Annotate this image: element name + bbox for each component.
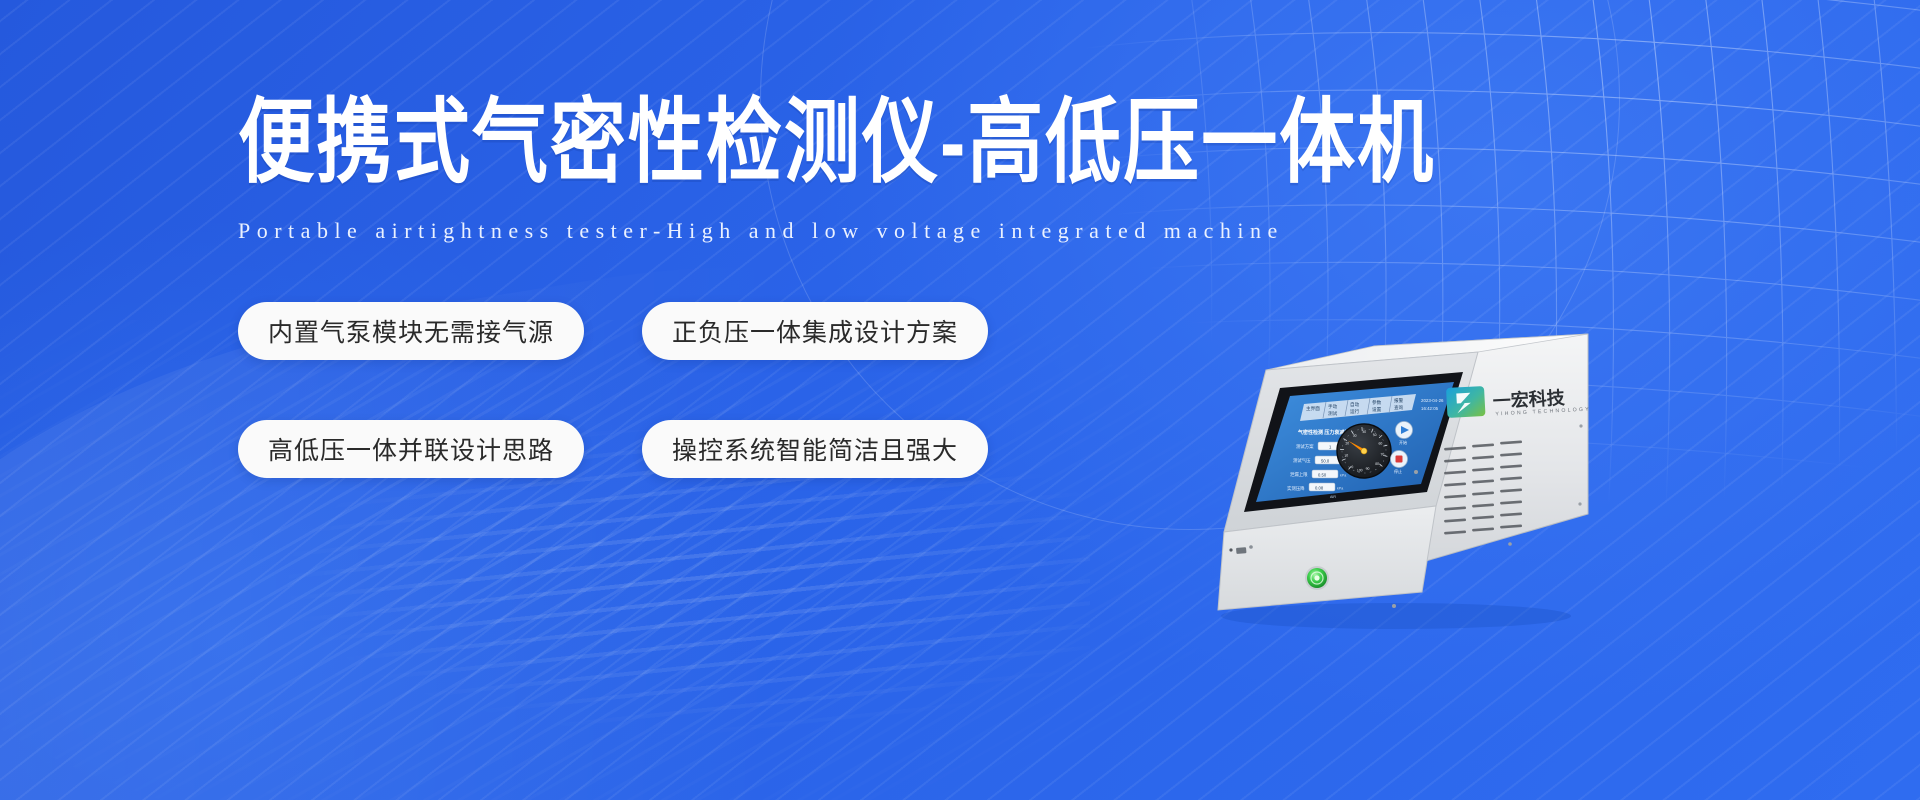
svg-text:运行: 运行: [1350, 408, 1360, 415]
svg-text:90: 90: [1366, 467, 1370, 471]
svg-text:自动: 自动: [1350, 401, 1360, 408]
feature-pill-4[interactable]: 操控系统智能简洁且强大: [642, 420, 988, 478]
feature-pill-3[interactable]: 高低压一体并联设计思路: [238, 420, 584, 478]
svg-text:停止: 停止: [1394, 468, 1402, 474]
svg-text:主界面: 主界面: [1306, 405, 1320, 412]
svg-text:50.0: 50.0: [1321, 459, 1330, 464]
svg-text:参数: 参数: [1372, 399, 1382, 406]
page-subtitle: Portable airtightness tester-High and lo…: [238, 218, 1388, 244]
screen-datetime: 2023-04-26: [1421, 398, 1444, 403]
svg-text:kPa: kPa: [1340, 474, 1346, 478]
svg-text:报警: 报警: [1394, 397, 1404, 404]
svg-text:0.50: 0.50: [1318, 473, 1327, 478]
svg-text:80: 80: [1375, 462, 1379, 466]
svg-text:开始: 开始: [1399, 439, 1407, 445]
svg-text:手动: 手动: [1328, 403, 1338, 410]
feature-pill-2[interactable]: 正负压一体集成设计方案: [642, 302, 988, 360]
svg-text:30: 30: [1353, 434, 1357, 438]
svg-text:测试气压: 测试气压: [1293, 457, 1311, 464]
svg-text:kPa: kPa: [1337, 487, 1343, 491]
page-title: 便携式气密性检测仪-高低压一体机: [238, 96, 1388, 191]
power-button: [1305, 566, 1329, 590]
svg-text:设置: 设置: [1372, 406, 1382, 413]
promo-banner: 便携式气密性检测仪-高低压一体机 Portable airtightness t…: [0, 0, 1920, 800]
device-shadow: [1221, 603, 1571, 629]
svg-text:泄漏上限: 泄漏上限: [1290, 471, 1308, 478]
svg-text:测试: 测试: [1328, 410, 1338, 417]
svg-text:70: 70: [1380, 452, 1384, 456]
svg-text:0.08: 0.08: [1315, 486, 1324, 491]
svg-text:16:42:05: 16:42:05: [1421, 406, 1439, 411]
svg-text:10: 10: [1344, 453, 1348, 457]
svg-text:20: 20: [1345, 441, 1349, 445]
indicator-led: [1249, 545, 1253, 549]
svg-text:实测压降: 实测压降: [1287, 485, 1305, 492]
background-speed-streaks: [110, 430, 1090, 760]
product-image: 主界面 手动测试 自动运行 参数设置 报警查询 2023-04-26 16:42…: [1178, 326, 1608, 636]
svg-text:查询: 查询: [1394, 404, 1404, 411]
svg-text:100: 100: [1357, 468, 1363, 472]
screen-footer-label: AIR: [1330, 495, 1336, 499]
svg-text:60: 60: [1378, 441, 1382, 445]
svg-text:测试方案: 测试方案: [1296, 443, 1314, 450]
svg-text:40: 40: [1362, 430, 1366, 434]
feature-pill-1[interactable]: 内置气泵模块无需接气源: [238, 302, 584, 360]
svg-text:50: 50: [1373, 433, 1377, 437]
